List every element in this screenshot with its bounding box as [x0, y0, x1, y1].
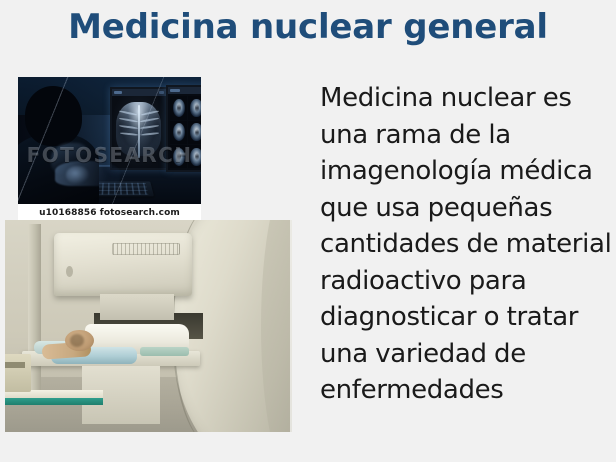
detector-neck: [100, 294, 175, 319]
detector-knob: [66, 266, 73, 277]
monitor-brain-ct: [166, 85, 201, 173]
ct-slice: [170, 96, 187, 119]
spine-shape: [138, 105, 141, 158]
ct-slice: [188, 145, 201, 168]
page-title: Medicina nuclear general: [0, 6, 616, 48]
body-paragraph: Medicina nuclear es una rama de la image…: [320, 80, 612, 409]
slide: Medicina nuclear general: [0, 0, 616, 462]
gamma-camera-photo: [5, 220, 292, 432]
brain-ct-grid: [168, 94, 201, 170]
radiology-scene: FOTOSEARCH: [18, 77, 201, 204]
radiologist-hand: [66, 166, 90, 184]
detector-head: [54, 233, 192, 297]
ct-slice: [170, 121, 187, 144]
radiology-photo: FOTOSEARCH: [18, 77, 201, 204]
ct-slice: [188, 96, 201, 119]
ct-slice: [170, 145, 187, 168]
chest-xray-image: [112, 96, 167, 168]
gantry-arc-inner: [261, 220, 292, 432]
photo-right-border: [290, 220, 292, 432]
radiologist-head: [25, 86, 82, 146]
side-equipment: [5, 354, 31, 392]
monitor-chest-xray: [110, 87, 169, 170]
ct-slice: [188, 121, 201, 144]
detector-vent: [112, 243, 180, 255]
table-rail: [5, 398, 103, 405]
patient-sheet: [140, 347, 189, 355]
patient-face-shadow: [70, 334, 84, 347]
